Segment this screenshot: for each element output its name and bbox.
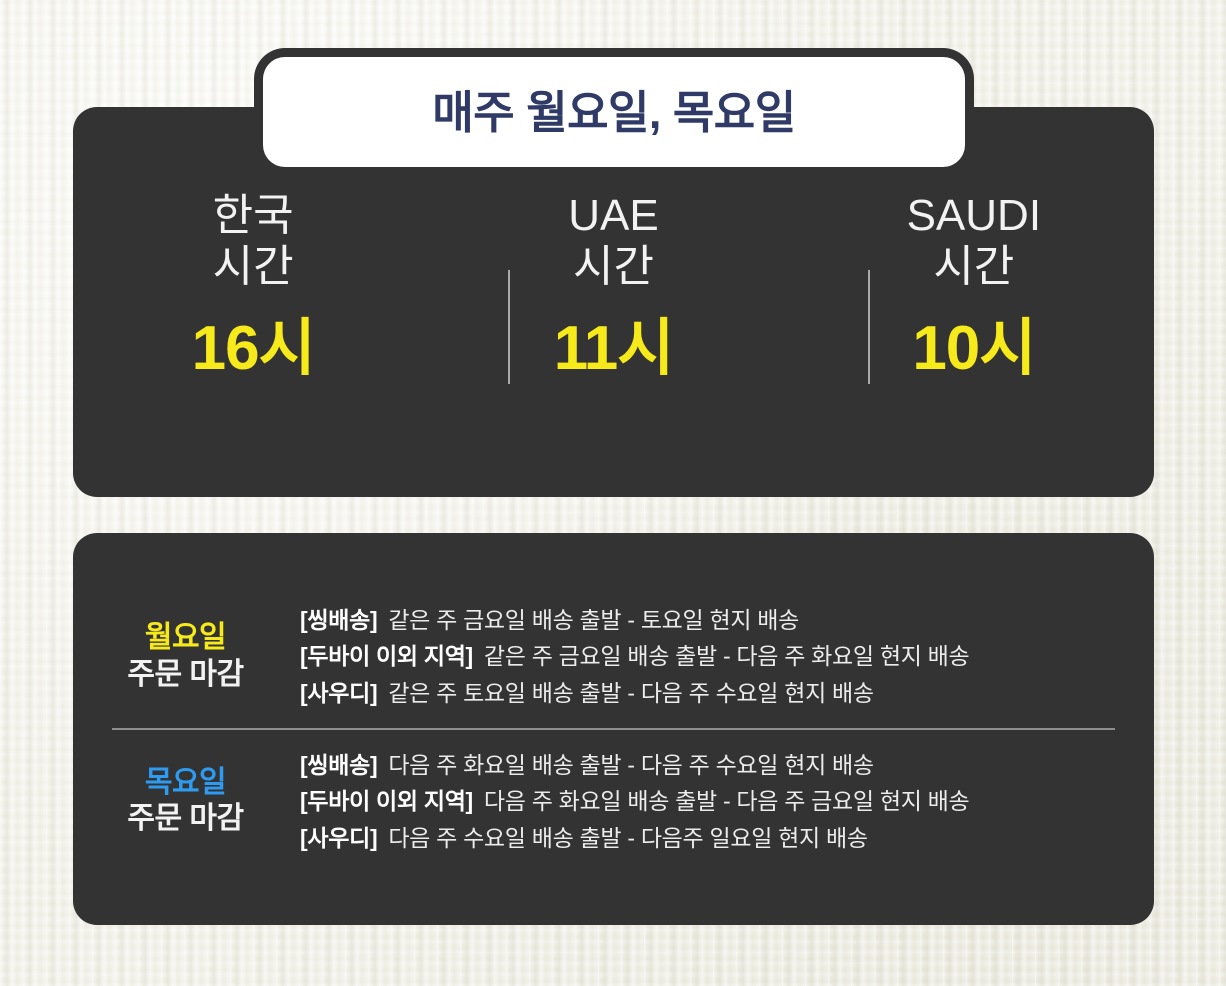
schedule-line-detail: 같은 주 금요일 배송 출발 - 다음 주 화요일 현지 배송 (484, 643, 969, 669)
schedule-line: [씽배송]같은 주 금요일 배송 출발 - 토요일 현지 배송 (300, 602, 1154, 638)
timezone-label-uae: UAE 시간 (568, 190, 658, 292)
schedule-line-detail: 같은 주 토요일 배송 출발 - 다음 주 수요일 현지 배송 (388, 680, 873, 706)
schedule-line-tag: [사우디] (300, 680, 377, 706)
schedule-cutoff-monday: 주문 마감 (73, 657, 298, 694)
timezone-region-uae: UAE (568, 191, 658, 240)
schedule-line-tag: [두바이 이외 지역] (300, 788, 473, 814)
timezone-value-korea: 16시 (192, 318, 315, 380)
delivery-schedule-content: 월요일 주문 마감 [씽배송]같은 주 금요일 배송 출발 - 토요일 현지 배… (73, 533, 1154, 925)
timezone-region-korea: 한국 (213, 191, 294, 240)
schedule-row-monday: 월요일 주문 마감 [씽배송]같은 주 금요일 배송 출발 - 토요일 현지 배… (73, 596, 1154, 717)
timezone-word-uae: 시간 (568, 241, 658, 292)
timezone-column-uae: UAE 시간 11시 (433, 190, 793, 380)
schedule-line: [두바이 이외 지역]같은 주 금요일 배송 출발 - 다음 주 화요일 현지 … (300, 638, 1154, 674)
schedule-line-detail: 같은 주 금요일 배송 출발 - 토요일 현지 배송 (388, 607, 799, 633)
timezone-divider-1 (508, 270, 510, 384)
timezone-label-saudi: SAUDI 시간 (907, 190, 1041, 292)
timezone-column-saudi: SAUDI 시간 10시 (794, 190, 1154, 380)
schedule-line: [씽배송]다음 주 화요일 배송 출발 - 다음 주 수요일 현지 배송 (300, 747, 1154, 783)
timezone-word-korea: 시간 (213, 241, 294, 292)
schedule-lines-thursday: [씽배송]다음 주 화요일 배송 출발 - 다음 주 수요일 현지 배송 [두바… (298, 747, 1154, 856)
schedule-cutoff-thursday: 주문 마감 (73, 801, 298, 838)
schedule-day-thursday: 목요일 (73, 765, 298, 802)
schedule-line-tag: [사우디] (300, 825, 377, 851)
schedule-lines-monday: [씽배송]같은 주 금요일 배송 출발 - 토요일 현지 배송 [두바이 이외 … (298, 602, 1154, 711)
timezone-region-saudi: SAUDI (907, 191, 1041, 240)
timezone-row: 한국 시간 16시 UAE 시간 11시 SAUDI 시간 10시 (73, 190, 1154, 460)
schedule-line: [두바이 이외 지역]다음 주 화요일 배송 출발 - 다음 주 금요일 현지 … (300, 783, 1154, 819)
schedule-line-detail: 다음 주 화요일 배송 출발 - 다음 주 수요일 현지 배송 (388, 752, 873, 778)
schedule-line: [사우디]다음 주 수요일 배송 출발 - 다음주 일요일 현지 배송 (300, 820, 1154, 856)
schedule-line-tag: [두바이 이외 지역] (300, 643, 473, 669)
page-title: 매주 월요일, 목요일 (432, 90, 795, 135)
timezone-word-saudi: 시간 (907, 241, 1041, 292)
schedule-line-detail: 다음 주 수요일 배송 출발 - 다음주 일요일 현지 배송 (388, 825, 867, 851)
schedule-label-thursday: 목요일 주문 마감 (73, 765, 298, 838)
timezone-label-korea: 한국 시간 (213, 190, 294, 292)
schedule-line: [사우디]같은 주 토요일 배송 출발 - 다음 주 수요일 현지 배송 (300, 675, 1154, 711)
schedule-line-tag: [씽배송] (300, 607, 377, 633)
schedule-day-monday: 월요일 (73, 620, 298, 657)
timezone-value-uae: 11시 (554, 318, 674, 380)
title-card: 매주 월요일, 목요일 (263, 57, 965, 167)
schedule-row-thursday: 목요일 주문 마감 [씽배송]다음 주 화요일 배송 출발 - 다음 주 수요일… (73, 741, 1154, 862)
schedule-line-detail: 다음 주 화요일 배송 출발 - 다음 주 금요일 현지 배송 (484, 788, 969, 814)
schedule-label-monday: 월요일 주문 마감 (73, 620, 298, 693)
schedule-line-tag: [씽배송] (300, 752, 377, 778)
timezone-divider-2 (868, 270, 870, 384)
timezone-value-saudi: 10시 (912, 318, 1035, 380)
infographic-page: 매주 월요일, 목요일 한국 시간 16시 UAE 시간 11시 SAUDI 시… (0, 0, 1226, 986)
timezone-column-korea: 한국 시간 16시 (73, 190, 433, 380)
schedule-divider (112, 728, 1115, 730)
